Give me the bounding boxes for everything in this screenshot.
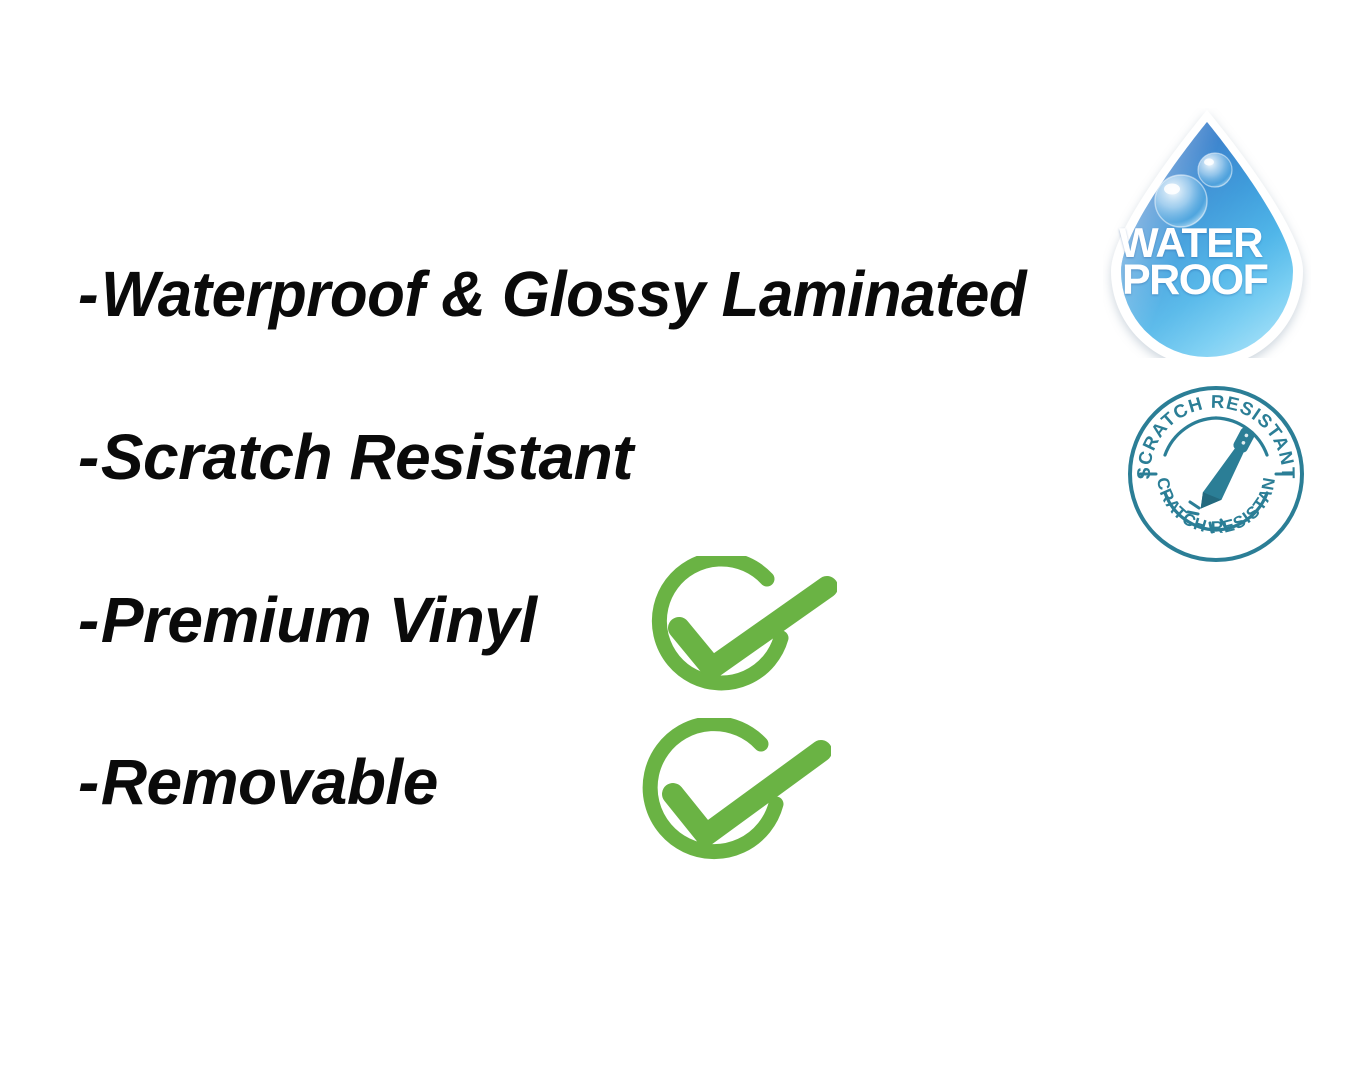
feature-item-removable: - Removable [78,750,438,814]
knife-icon [1197,421,1257,517]
bullet-dash-icon: - [78,425,99,489]
green-check-circle-icon [641,556,837,706]
bullet-dash-icon: - [78,750,99,814]
feature-label: Waterproof & Glossy Laminated [101,262,1026,326]
water-bubble-large-highlight [1164,184,1180,195]
waterproof-droplet-badge: WATER PROOF [1103,108,1311,358]
green-check-circle-icon [635,718,831,874]
check-mark-stroke [673,751,821,835]
feature-item-scratch-resistant: - Scratch Resistant [78,425,633,489]
water-bubble-small [1198,153,1232,187]
bullet-dash-icon: - [78,262,98,326]
feature-list-graphic: - Waterproof & Glossy Laminated - Scratc… [0,0,1359,1080]
water-bubble-large [1155,175,1207,227]
bullet-dash-icon: - [78,588,99,652]
feature-label: Removable [101,750,438,814]
feature-item-waterproof-glossy-laminated: - Waterproof & Glossy Laminated [78,262,1060,326]
feature-item-premium-vinyl: - Premium Vinyl [78,588,537,652]
stamp-arc-text-top: SCRATCH RESISTANT [1133,391,1299,480]
check-mark-stroke [679,587,827,668]
scratch-resistant-stamp-badge: SCRATCH RESISTANT SCRATCH RESISTANT [1126,384,1306,564]
feature-label: Premium Vinyl [101,588,537,652]
feature-label: Scratch Resistant [101,425,633,489]
water-bubble-small-highlight [1204,158,1214,165]
